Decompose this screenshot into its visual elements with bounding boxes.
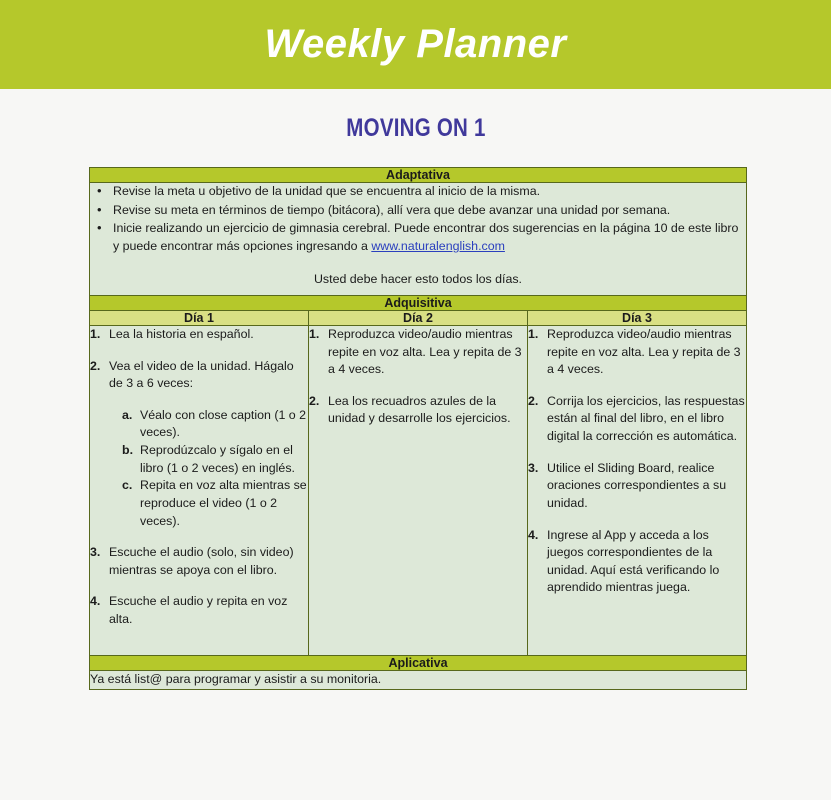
item-marker: 1. <box>90 326 100 344</box>
aplicativa-body-row: Ya está list@ para programar y asistir a… <box>90 671 747 690</box>
item-marker: 2. <box>528 393 538 411</box>
list-item: 2. Lea los recuadros azules de la unidad… <box>309 393 527 428</box>
adaptativa-header-row: Adaptativa <box>90 168 747 183</box>
day3-list: 1. Reproduzca video/audio mientras repit… <box>528 326 746 597</box>
section-header-adquisitiva: Adquisitiva <box>90 296 747 311</box>
day3-content-cell: 1. Reproduzca video/audio mientras repit… <box>528 326 747 656</box>
list-item: Revise la meta u objetivo de la unidad q… <box>90 183 746 201</box>
day1-list: 1. Lea la historia en español. 2. Vea el… <box>90 326 308 629</box>
page-banner: Weekly Planner <box>0 0 831 89</box>
naturalenglish-link[interactable]: www.naturalenglish.com <box>371 239 505 253</box>
list-item: 2. Corrija los ejercicios, las respuesta… <box>528 393 746 446</box>
adaptativa-content-cell: Revise la meta u objetivo de la unidad q… <box>90 183 747 296</box>
day1-content-cell: 1. Lea la historia en español. 2. Vea el… <box>90 326 309 656</box>
item-marker: a. <box>122 407 132 425</box>
subtitle-container: MOVING ON 1 <box>0 89 831 167</box>
planner-table-wrapper: Adaptativa Revise la meta u objetivo de … <box>0 167 831 690</box>
item-text: Escuche el audio (solo, sin video) mient… <box>109 544 308 579</box>
list-item: a. Véalo con close caption (1 o 2 veces)… <box>122 407 308 442</box>
adaptativa-bullet-1: Revise la meta u objetivo de la unidad q… <box>113 184 540 198</box>
item-text: Escuche el audio y repita en voz alta. <box>109 593 308 628</box>
list-item: 3. Escuche el audio (solo, sin video) mi… <box>90 544 308 579</box>
item-text: Lea los recuadros azules de la unidad y … <box>328 393 527 428</box>
day1-sublist: a. Véalo con close caption (1 o 2 veces)… <box>122 407 308 530</box>
item-marker: 4. <box>90 593 100 611</box>
item-marker: 3. <box>528 460 538 478</box>
item-text: Véalo con close caption (1 o 2 veces). <box>140 407 308 442</box>
day-header-3: Día 3 <box>528 311 747 326</box>
adquisitiva-header-row: Adquisitiva <box>90 296 747 311</box>
adaptativa-daily-note: Usted debe hacer esto todos los días. <box>90 271 746 289</box>
item-marker: 1. <box>309 326 319 344</box>
item-text: Utilice el Sliding Board, realice oracio… <box>547 460 746 513</box>
item-text: Vea el video de la unidad. Hágalo de 3 a… <box>109 358 308 393</box>
item-text: Repita en voz alta mientras se reproduce… <box>140 477 308 530</box>
aplicativa-content-cell: Ya está list@ para programar y asistir a… <box>90 671 747 690</box>
list-item: 4. Escuche el audio y repita en voz alta… <box>90 593 308 628</box>
list-item: 4. Ingrese al App y acceda a los juegos … <box>528 527 746 597</box>
item-marker: c. <box>122 477 132 495</box>
day2-content-cell: 1. Reproduzca video/audio mientras repit… <box>309 326 528 656</box>
item-marker: 2. <box>90 358 100 376</box>
adaptativa-body-row: Revise la meta u objetivo de la unidad q… <box>90 183 747 296</box>
list-item: 1. Lea la historia en español. <box>90 326 308 344</box>
adaptativa-bullet-2: Revise su meta en términos de tiempo (bi… <box>113 203 670 217</box>
list-item: 1. Reproduzca video/audio mientras repit… <box>309 326 527 379</box>
list-item: 3. Utilice el Sliding Board, realice ora… <box>528 460 746 513</box>
page-title: Weekly Planner <box>265 22 567 67</box>
section-header-adaptativa: Adaptativa <box>90 168 747 183</box>
item-text: Reprodúzcalo y sígalo en el libro (1 o 2… <box>140 442 308 477</box>
list-item: 2. Vea el video de la unidad. Hágalo de … <box>90 358 308 530</box>
item-marker: 4. <box>528 527 538 545</box>
adaptativa-bullet-list: Revise la meta u objetivo de la unidad q… <box>90 183 746 255</box>
item-text: Reproduzca video/audio mientras repite e… <box>328 326 527 379</box>
item-marker: 2. <box>309 393 319 411</box>
list-item: c. Repita en voz alta mientras se reprod… <box>122 477 308 530</box>
day-content-row: 1. Lea la historia en español. 2. Vea el… <box>90 326 747 656</box>
list-item: 1. Reproduzca video/audio mientras repit… <box>528 326 746 379</box>
weekly-planner-table: Adaptativa Revise la meta u objetivo de … <box>89 167 747 690</box>
item-text: Ingrese al App y acceda a los juegos cor… <box>547 527 746 597</box>
day2-list: 1. Reproduzca video/audio mientras repit… <box>309 326 527 428</box>
day-header-row: Día 1 Día 2 Día 3 <box>90 311 747 326</box>
list-item: b. Reprodúzcalo y sígalo en el libro (1 … <box>122 442 308 477</box>
item-marker: 3. <box>90 544 100 562</box>
day-header-1: Día 1 <box>90 311 309 326</box>
item-text: Corrija los ejercicios, las respuestas e… <box>547 393 746 446</box>
unit-subtitle: MOVING ON 1 <box>346 114 485 143</box>
section-header-aplicativa: Aplicativa <box>90 656 747 671</box>
item-text: Reproduzca video/audio mientras repite e… <box>547 326 746 379</box>
item-marker: 1. <box>528 326 538 344</box>
list-item: Revise su meta en términos de tiempo (bi… <box>90 202 746 220</box>
day-header-2: Día 2 <box>309 311 528 326</box>
item-marker: b. <box>122 442 133 460</box>
aplicativa-header-row: Aplicativa <box>90 656 747 671</box>
item-text: Lea la historia en español. <box>109 326 308 344</box>
list-item: Inicie realizando un ejercicio de gimnas… <box>90 220 746 255</box>
